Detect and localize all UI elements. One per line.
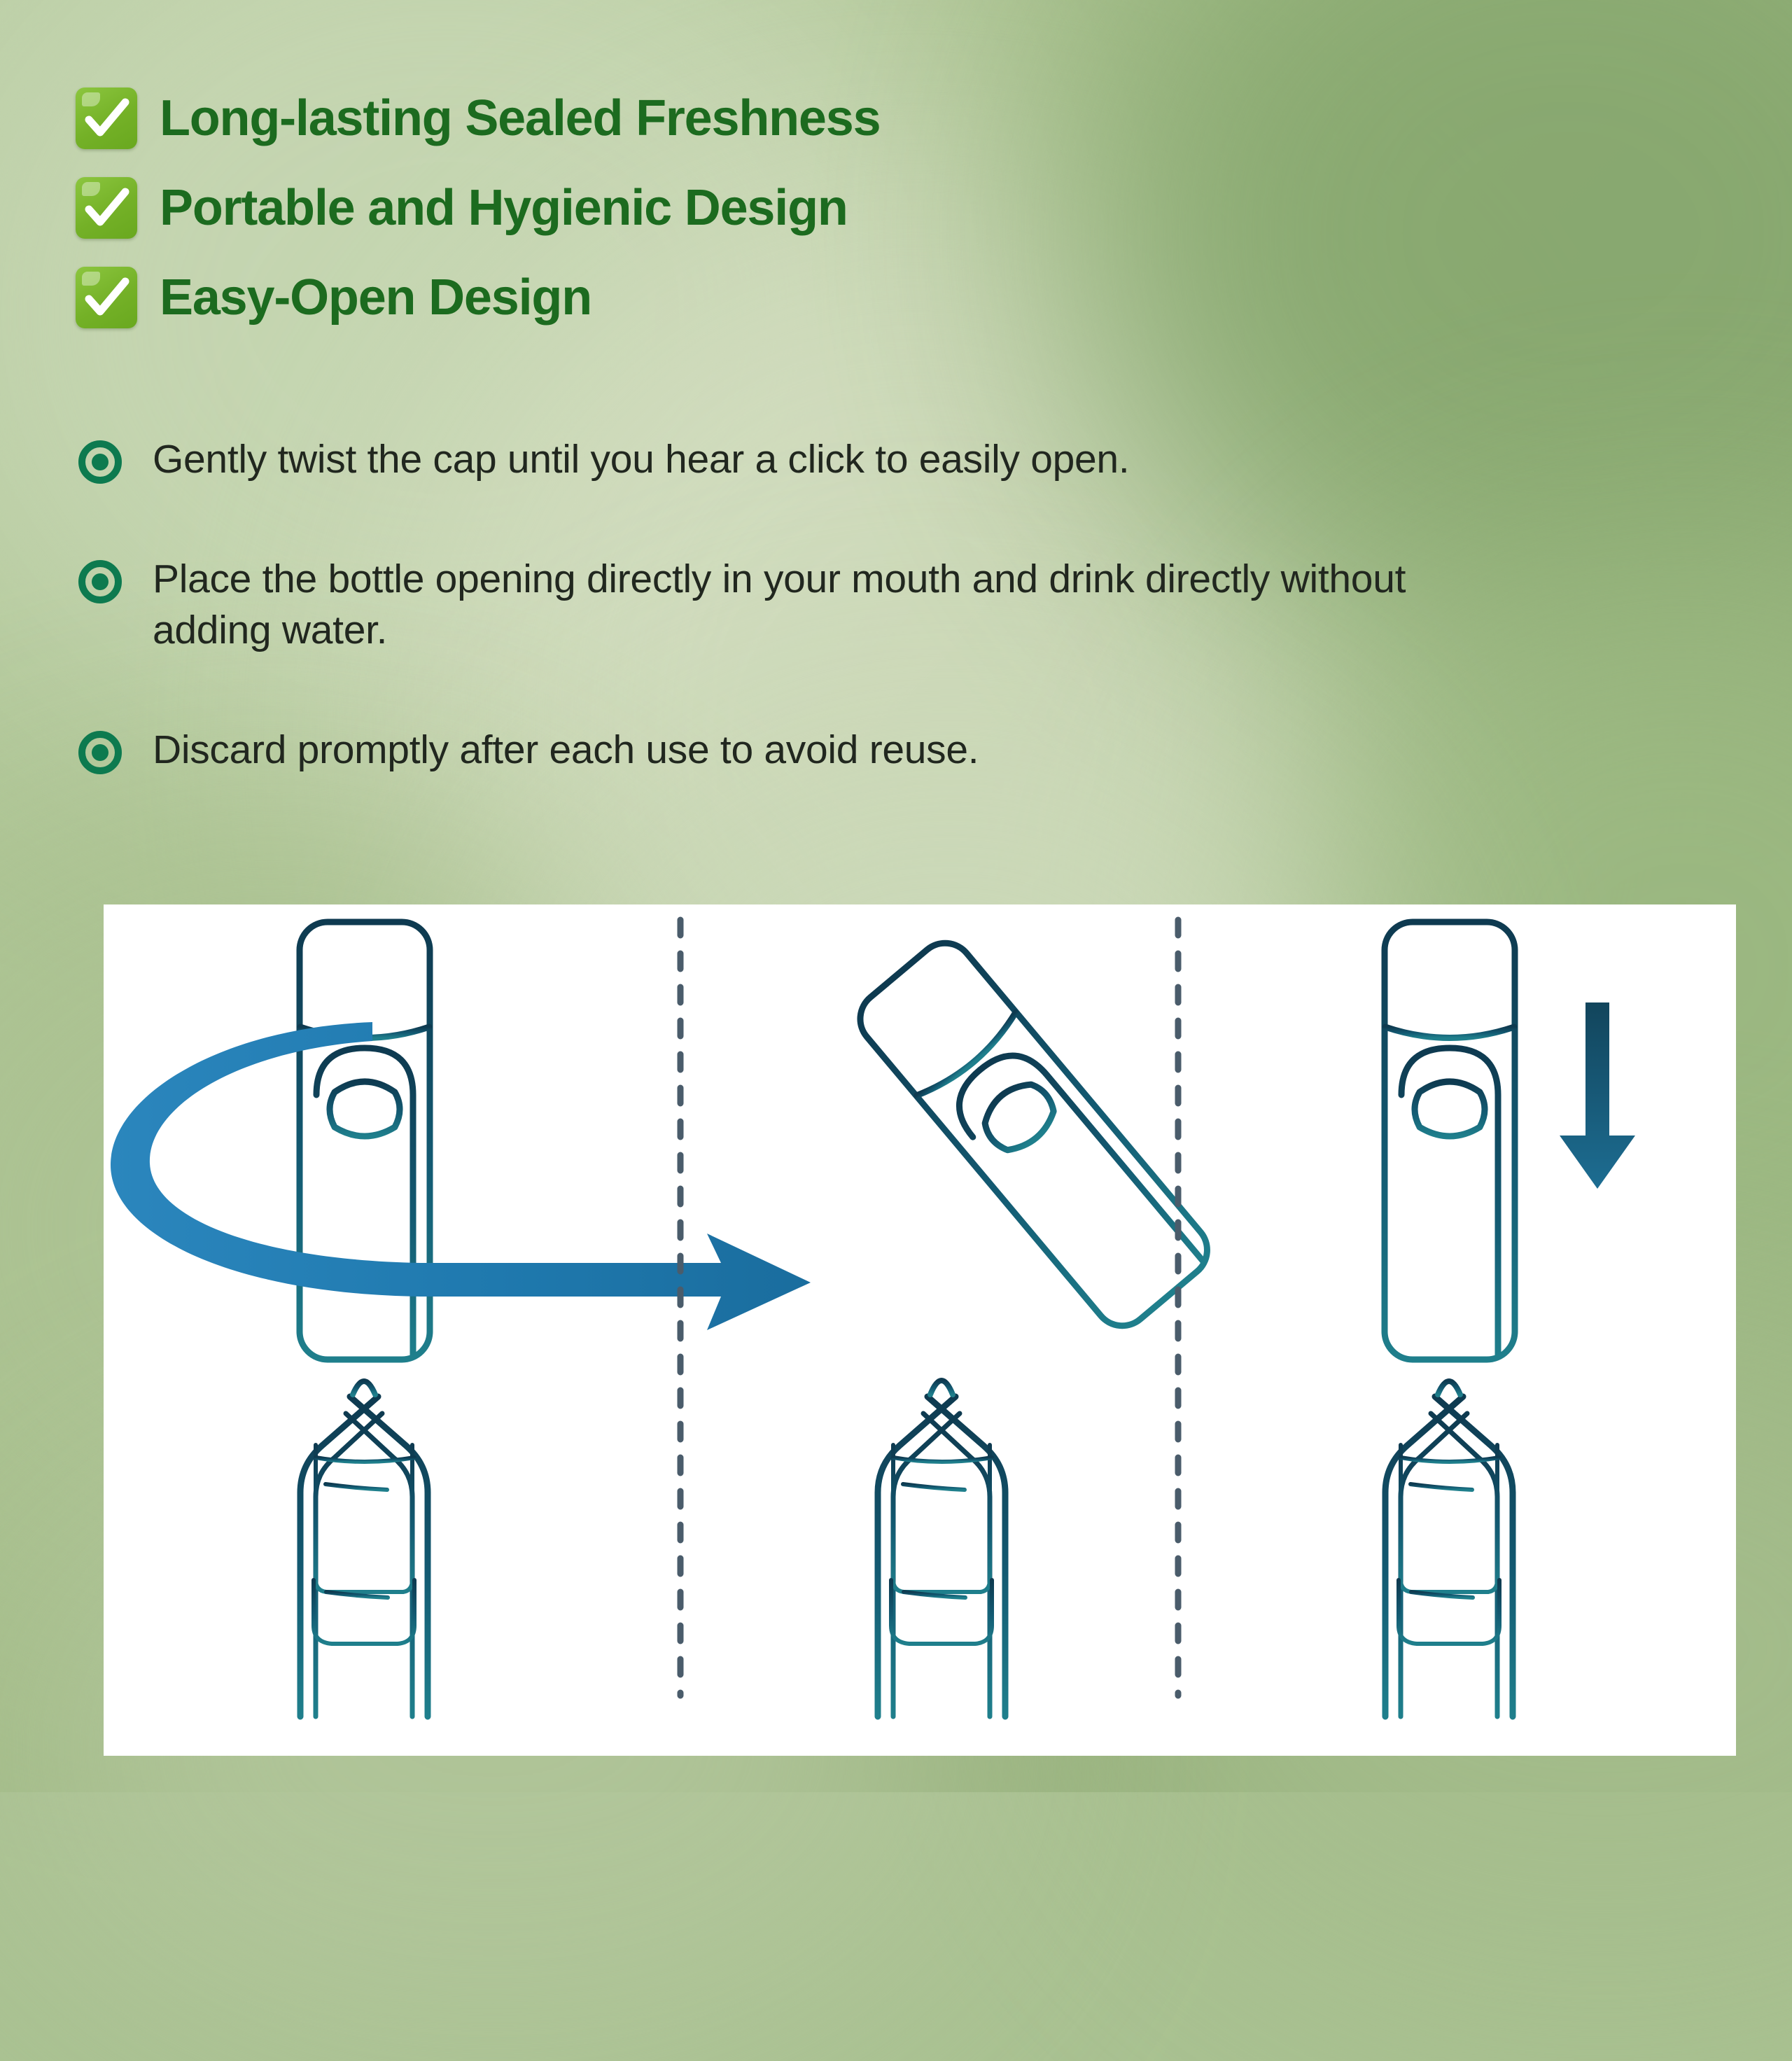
replace-cap-step (1385, 922, 1635, 1717)
instruction-item: Gently twist the cap until you hear a cl… (78, 434, 1513, 485)
remove-cap-step (849, 932, 1219, 1717)
radio-bullet-icon (78, 731, 122, 774)
feature-item: Portable and Hygienic Design (76, 163, 880, 253)
instruction-item: Discard promptly after each use to avoid… (78, 725, 1513, 776)
instruction-item: Place the bottle opening directly in you… (78, 554, 1513, 656)
radio-bullet-icon (78, 440, 122, 484)
feature-label: Long-lasting Sealed Freshness (160, 93, 880, 144)
feature-item: Easy-Open Design (76, 253, 880, 342)
check-square-icon (76, 267, 137, 328)
feature-item: Long-lasting Sealed Freshness (76, 74, 880, 163)
tilted-cap-icon (849, 932, 1219, 1337)
instruction-text: Gently twist the cap until you hear a cl… (153, 434, 1129, 485)
down-arrow-icon (1560, 1002, 1635, 1189)
instruction-text: Place the bottle opening directly in you… (153, 554, 1469, 656)
check-square-icon (76, 177, 137, 239)
radio-bullet-icon (78, 560, 122, 603)
twist-cap-step (111, 922, 811, 1717)
check-square-icon (76, 88, 137, 149)
rotate-arrow-icon (111, 1022, 811, 1330)
illustration-panel (104, 904, 1736, 1756)
feature-label: Portable and Hygienic Design (160, 183, 848, 233)
instruction-text: Discard promptly after each use to avoid… (153, 725, 979, 776)
feature-checklist: Long-lasting Sealed Freshness Portable a… (76, 74, 880, 342)
feature-label: Easy-Open Design (160, 272, 591, 323)
instruction-list: Gently twist the cap until you hear a cl… (78, 434, 1513, 776)
